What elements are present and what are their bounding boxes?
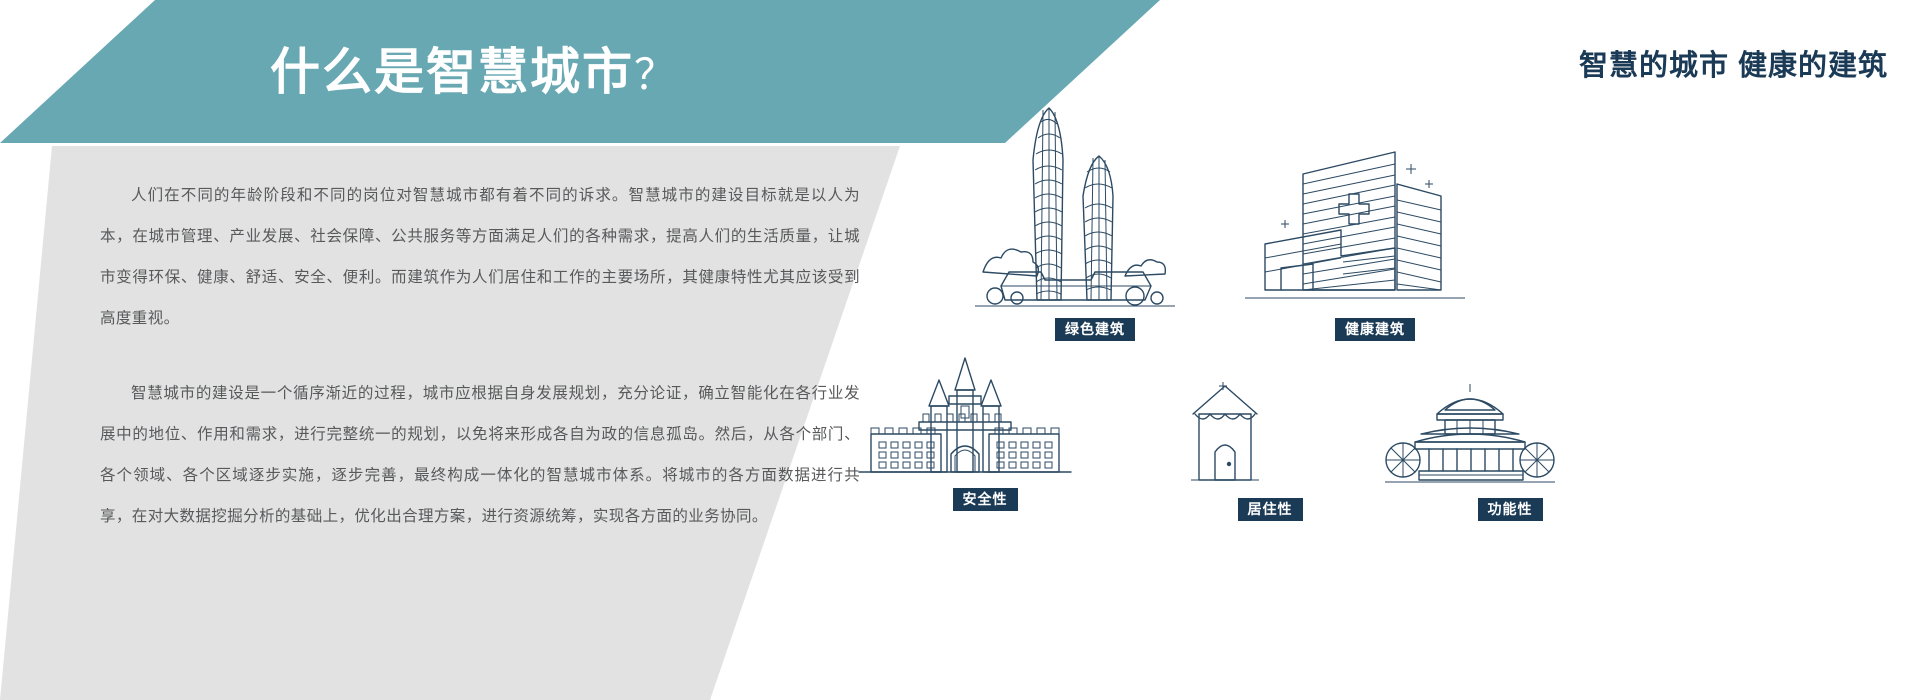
icon-grid: 绿色建筑 健康建筑 <box>845 100 1920 620</box>
right-headline: 智慧的城市 健康的建筑 <box>1579 42 1888 84</box>
twin-towers-icon <box>975 100 1215 310</box>
badge-healthy-building: 健康建筑 <box>1335 318 1415 341</box>
house-icon <box>1165 370 1375 490</box>
castle-icon <box>845 350 1125 480</box>
icon-cell-green-building: 绿色建筑 <box>975 100 1215 341</box>
icon-cell-functionality: 功能性 <box>1385 370 1635 521</box>
paragraph-1: 人们在不同的年龄阶段和不同的岗位对智慧城市都有着不同的诉求。智慧城市的建设目标就… <box>100 175 860 339</box>
page-title: 什么是智慧城市？ <box>270 47 678 97</box>
page-title-text: 什么是智慧城市 <box>270 44 634 100</box>
icon-cell-livability: 居住性 <box>1165 370 1375 521</box>
page-title-question-mark: ？ <box>634 51 678 98</box>
body-copy: 人们在不同的年龄阶段和不同的岗位对智慧城市都有着不同的诉求。智慧城市的建设目标就… <box>100 175 860 537</box>
badge-green-building: 绿色建筑 <box>1055 318 1135 341</box>
icon-cell-healthy-building: 健康建筑 <box>1245 140 1505 341</box>
hospital-complex-icon <box>1245 140 1505 310</box>
pavilion-icon <box>1385 370 1635 490</box>
badge-livability: 居住性 <box>1238 498 1303 521</box>
icon-cell-safety: 安全性 <box>845 350 1125 511</box>
paragraph-2: 智慧城市的建设是一个循序渐近的过程，城市应根据自身发展规划，充分论证，确立智能化… <box>100 373 860 537</box>
badge-functionality: 功能性 <box>1478 498 1543 521</box>
badge-safety: 安全性 <box>953 488 1018 511</box>
